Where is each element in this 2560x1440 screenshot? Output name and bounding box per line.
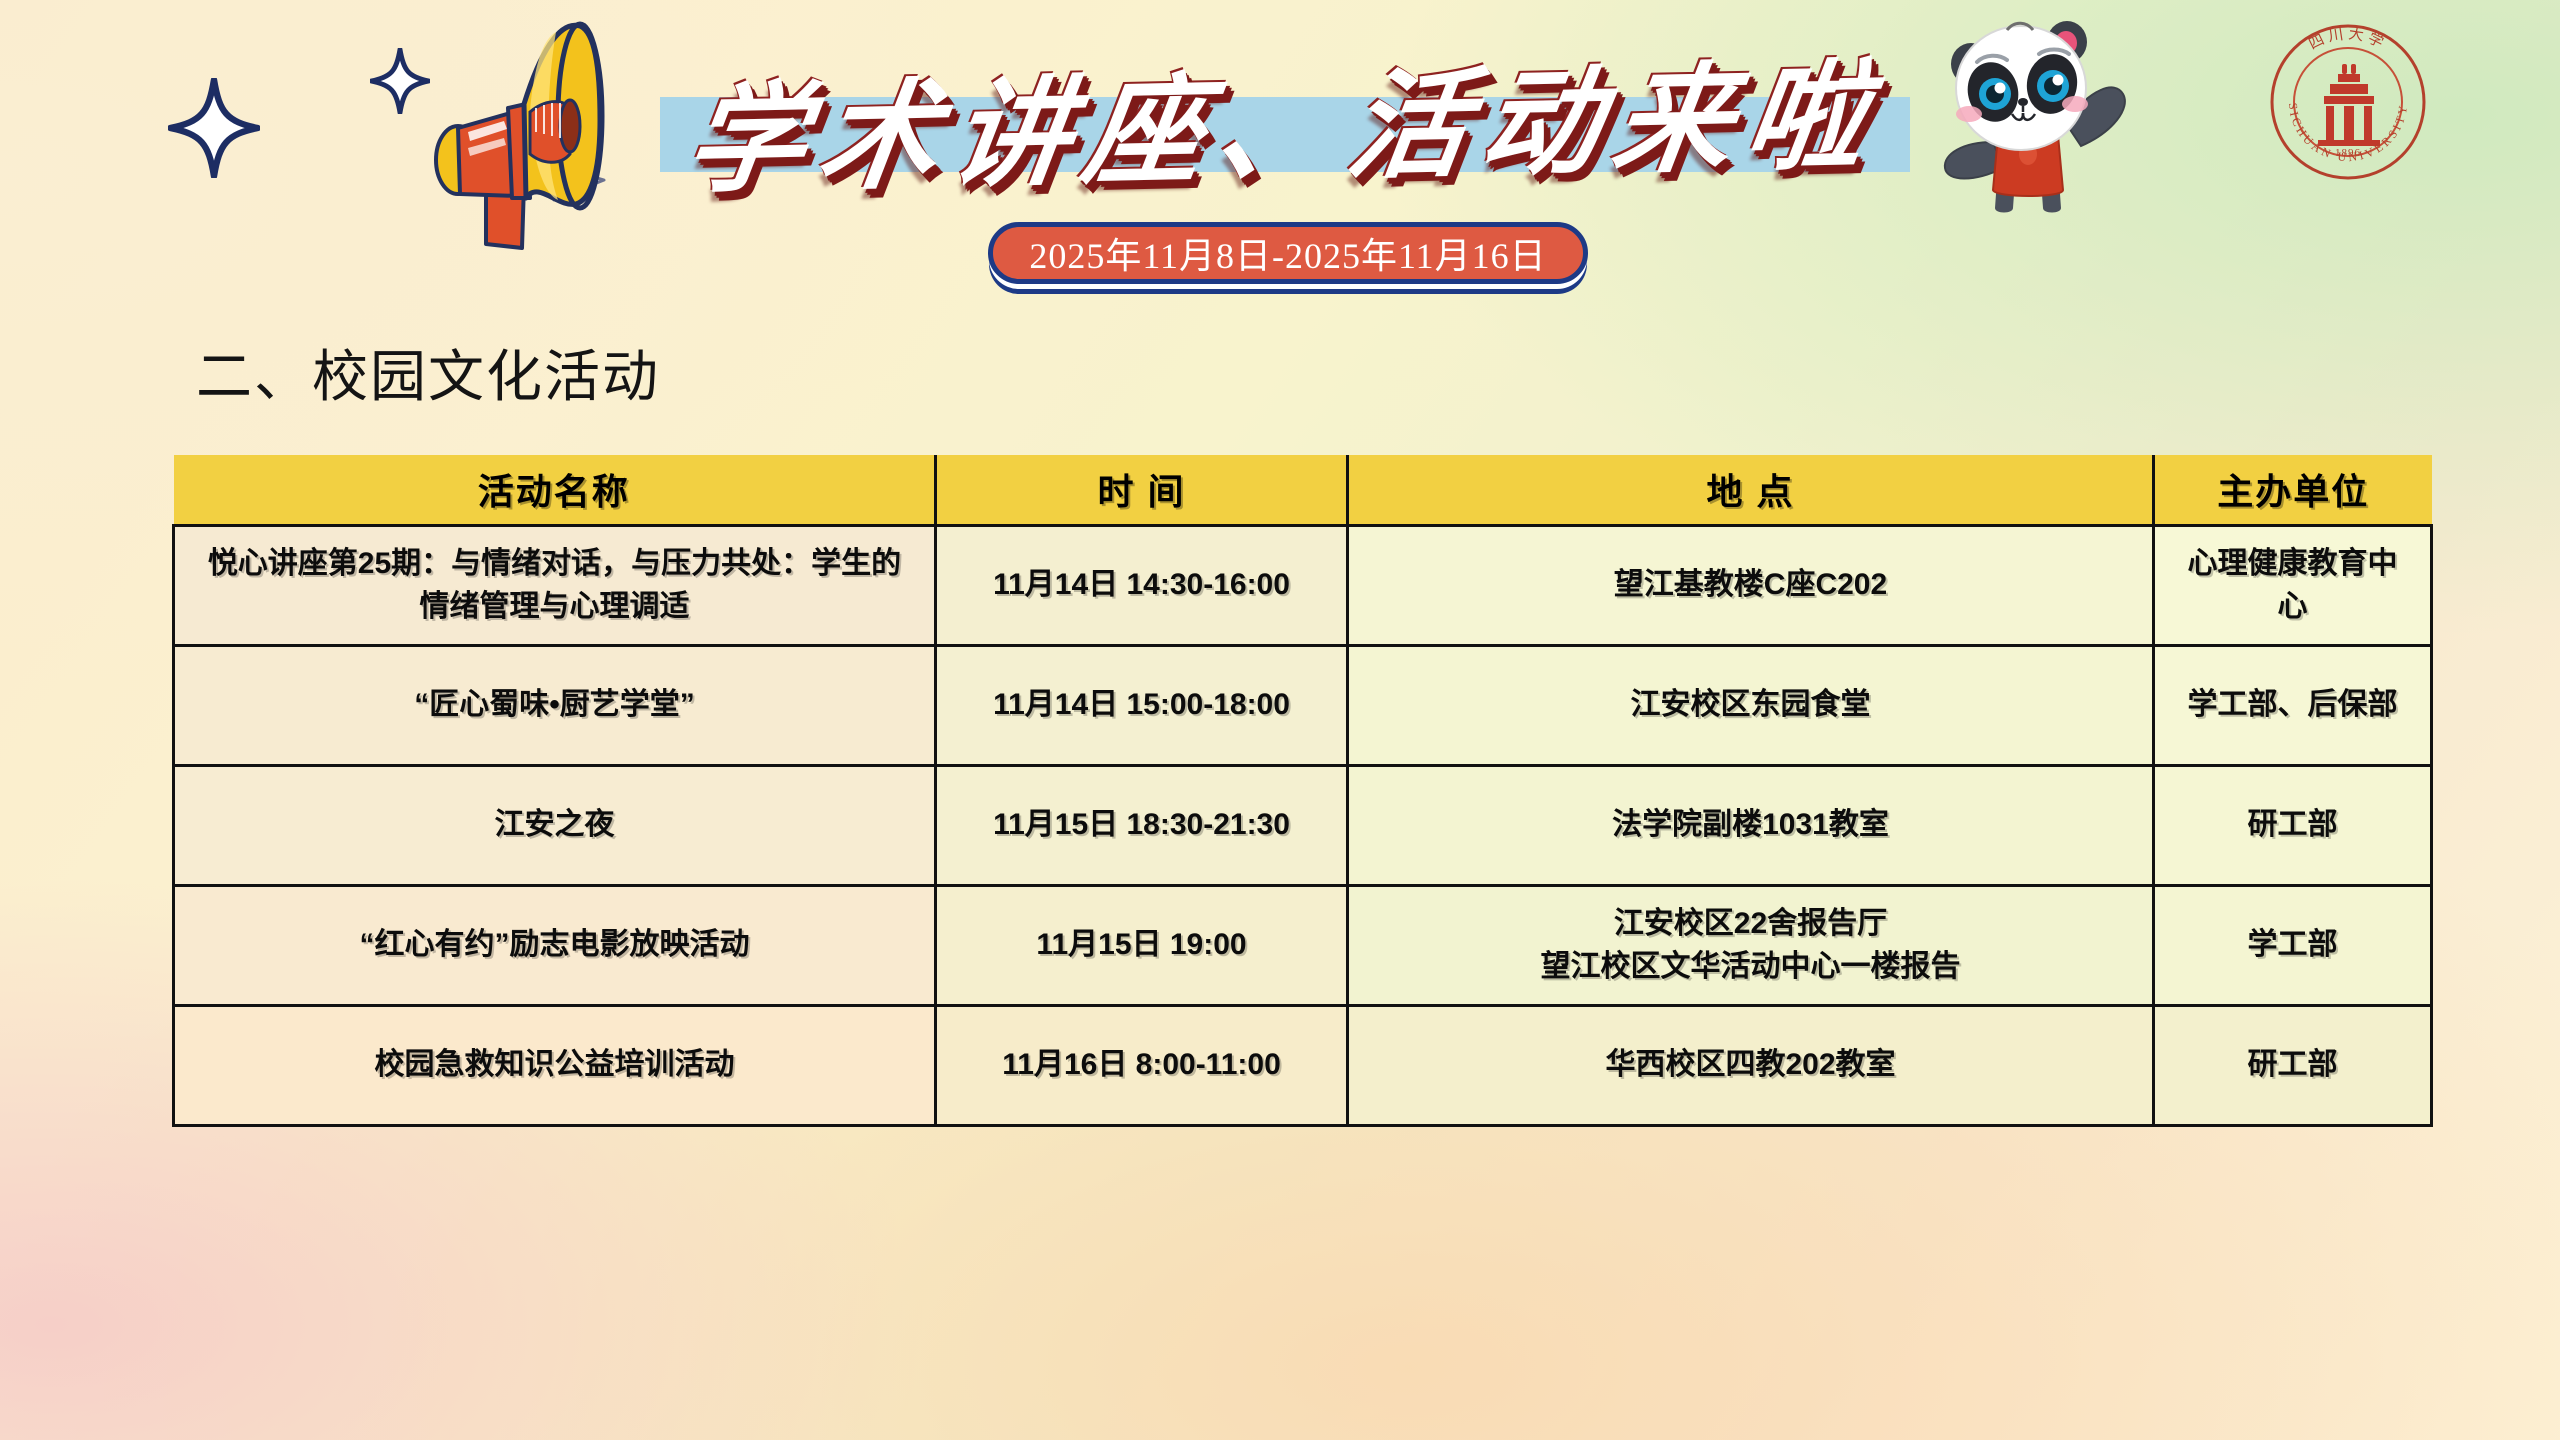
table-row: “红心有约”励志电影放映活动 11月15日 19:00 江安校区22舍报告厅 望…	[174, 885, 2432, 1005]
cell-organizer: 研工部	[2154, 1005, 2432, 1125]
section-heading: 二、校园文化活动	[196, 332, 660, 413]
location-line-1: 江安校区22舍报告厅	[1367, 902, 2134, 946]
cell-location: 法学院副楼1031教室	[1348, 765, 2154, 885]
cell-organizer: 心理健康教育中心	[2154, 525, 2432, 645]
page-title: 学术讲座、活动来啦	[648, 29, 1922, 205]
cell-activity-name: 校园急救知识公益培训活动	[174, 1005, 936, 1125]
cell-time: 11月14日 14:30-16:00	[936, 525, 1348, 645]
cell-time: 11月14日 15:00-18:00	[936, 645, 1348, 765]
sparkle-icon	[168, 78, 260, 178]
cell-activity-name: “红心有约”励志电影放映活动	[174, 885, 936, 1005]
table-row: “匠心蜀味•厨艺学堂” 11月14日 15:00-18:00 江安校区东园食堂 …	[174, 645, 2432, 765]
cell-activity-name: 江安之夜	[174, 765, 936, 885]
column-header-location: 地 点	[1348, 455, 2154, 525]
cell-time: 11月15日 19:00	[936, 885, 1348, 1005]
location-line-1: 江安校区东园食堂	[1367, 683, 2134, 727]
cell-location: 江安校区22舍报告厅 望江校区文华活动中心一楼报告	[1348, 885, 2154, 1005]
activity-schedule-table: 活动名称 时 间 地 点 主办单位 悦心讲座第25期：与情绪对话，与压力共处：学…	[172, 455, 2433, 1127]
poster-header: 学术讲座、活动来啦	[0, 0, 2560, 310]
cell-time: 11月15日 18:30-21:30	[936, 765, 1348, 885]
poster-canvas: 学术讲座、活动来啦	[0, 0, 2560, 1440]
table-row: 悦心讲座第25期：与情绪对话，与压力共处：学生的情绪管理与心理调适 11月14日…	[174, 525, 2432, 645]
location-line-1: 望江基教楼C座C202	[1367, 563, 2134, 607]
column-header-organizer: 主办单位	[2154, 455, 2432, 525]
cell-time: 11月16日 8:00-11:00	[936, 1005, 1348, 1125]
cell-organizer: 学工部、后保部	[2154, 645, 2432, 765]
location-line-2: 望江校区文华活动中心一楼报告	[1367, 945, 2134, 989]
panda-mascot-icon	[1915, 4, 2140, 219]
cell-activity-name: “匠心蜀味•厨艺学堂”	[174, 645, 936, 765]
location-line-1: 华西校区四教202教室	[1367, 1043, 2134, 1087]
cell-activity-name: 悦心讲座第25期：与情绪对话，与压力共处：学生的情绪管理与心理调适	[174, 525, 936, 645]
column-header-time: 时 间	[936, 455, 1348, 525]
cell-organizer: 学工部	[2154, 885, 2432, 1005]
table-row: 江安之夜 11月15日 18:30-21:30 法学院副楼1031教室 研工部	[174, 765, 2432, 885]
cell-location: 华西校区四教202教室	[1348, 1005, 2154, 1125]
megaphone-icon	[318, 8, 648, 253]
cell-organizer: 研工部	[2154, 765, 2432, 885]
table-row: 校园急救知识公益培训活动 11月16日 8:00-11:00 华西校区四教202…	[174, 1005, 2432, 1125]
location-line-1: 法学院副楼1031教室	[1367, 803, 2134, 847]
cell-location: 江安校区东园食堂	[1348, 645, 2154, 765]
cell-location: 望江基教楼C座C202	[1348, 525, 2154, 645]
column-header-activity-name: 活动名称	[174, 455, 936, 525]
sichuan-university-logo: 1896 四川大学 SICHUAN UNIVERSITY	[2268, 22, 2428, 177]
table-header-row: 活动名称 时 间 地 点 主办单位	[174, 455, 2432, 525]
date-range-badge: 2025年11月8日-2025年11月16日	[988, 222, 1588, 284]
